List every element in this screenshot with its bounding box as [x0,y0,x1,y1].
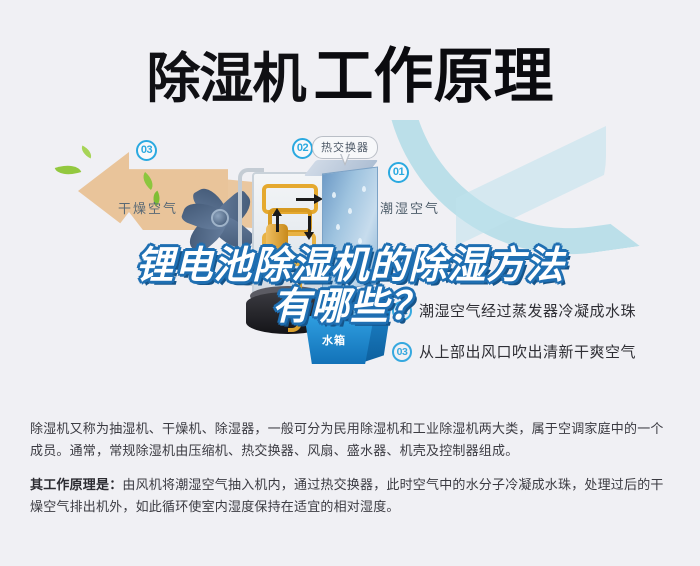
overlay-headline: 锂电池除湿机的除湿方法 有哪些？ [0,246,700,328]
paragraph-two-rest: 由风机将潮湿空气抽入机内，通过热交换器，此时空气中的水分子冷凝成水珠，处理过后的… [30,477,664,514]
flow-arrow-down-icon [304,232,314,240]
callout-pointer-icon [340,154,350,166]
badge-dry-air: 03 [136,140,157,161]
water-tank-label: 水箱 [322,332,346,348]
water-droplet-icon [362,186,366,192]
step-badge: 03 [392,342,412,362]
flow-arrow-stem [296,198,316,201]
paragraph-two-lead: 其工作原理是： [30,477,122,492]
water-droplet-icon [358,238,362,244]
article-body: 除湿机又称为抽湿机、干燥机、除湿器，一般可分为民用除湿机和工业除湿机两大类，属于… [30,418,676,530]
water-droplet-icon [336,224,340,230]
list-item: 03 从上部出风口吹出清新干爽空气 [392,341,692,362]
flow-arrow-stem [308,216,311,232]
water-droplet-icon [332,192,336,198]
page-root: 除湿机工作原理 干燥空气 03 [0,0,700,566]
page-title-part1: 除湿机 [147,49,306,109]
paragraph-two: 其工作原理是：由风机将潮湿空气抽入机内，通过热交换器，此时空气中的水分子冷凝成水… [30,474,676,518]
water-droplet-icon [348,208,352,214]
flow-arrow-stem [276,216,279,232]
page-title-part2: 工作原理 [314,43,554,110]
humid-air-label: 潮湿空气 [380,198,440,217]
step-text: 从上部出风口吹出清新干爽空气 [419,341,636,362]
leaf-icon [79,146,94,159]
fan-hub [211,209,229,227]
page-title: 除湿机工作原理 [0,28,700,115]
badge-humid-air: 01 [388,162,409,183]
overlay-headline-line2: 有哪些？ [0,287,700,328]
badge-heat-exchanger: 02 [292,138,313,159]
flow-arrow-up-icon [272,208,282,216]
leaf-icon [55,161,82,180]
paragraph-one: 除湿机又称为抽湿机、干燥机、除湿器，一般可分为民用除湿机和工业除湿机两大类，属于… [30,418,676,462]
dry-air-label: 干燥空气 [118,198,178,217]
overlay-headline-line1: 锂电池除湿机的除湿方法 [135,245,564,287]
